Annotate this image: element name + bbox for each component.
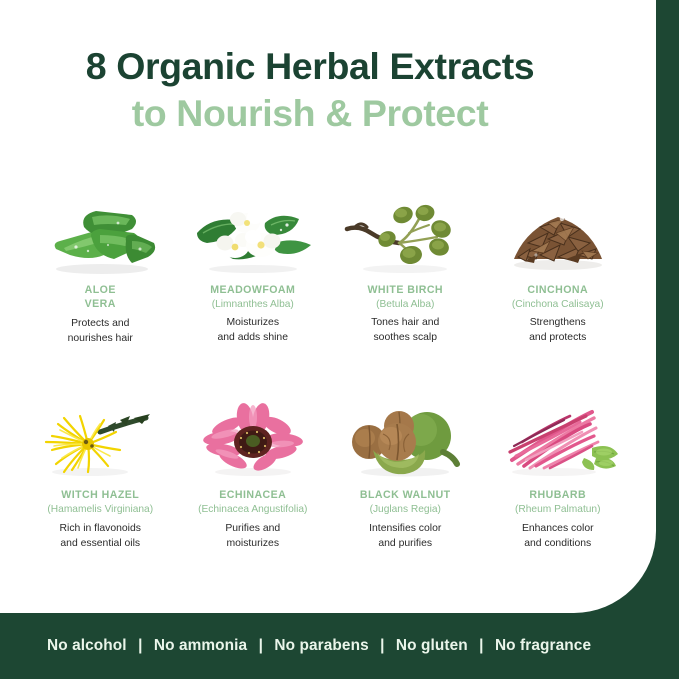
claim-no-ammonia: No ammonia [154,637,247,654]
echinacea-flower-icon [189,398,317,482]
extract-item-white-birch: WHITE BIRCH (Betula Alba) Tones hair and… [329,193,482,346]
extract-item-witch-hazel: WITCH HAZEL (Hamamelis Virginiana) Rich … [24,398,177,551]
extract-name: ALOE VERA [85,284,116,312]
extract-name: BLACK WALNUT [360,489,451,503]
extract-item-echinacea: ECHINACEA (Echinacea Angustifolia) Purif… [177,398,330,551]
extract-description: Tones hair and soothes scalp [371,316,439,346]
claims-footer: No alcohol | No ammonia | No parabens | … [0,613,679,679]
extract-description: Protects and nourishes hair [68,317,133,347]
extract-description: Purifies and moisturizes [225,522,280,552]
claim-separator: | [373,637,391,655]
claim-no-alcohol: No alcohol [47,637,127,654]
rhubarb-stalks-icon [494,398,622,482]
extract-latin-name: (Limnanthes Alba) [212,298,294,311]
extract-latin-name: (Hamamelis Virginiana) [47,503,153,516]
extract-latin-name: (Echinacea Angustifolia) [198,503,307,516]
claim-separator: | [252,637,270,655]
extract-name: WITCH HAZEL [61,489,139,503]
extract-latin-name: (Cinchona Calisaya) [512,298,604,311]
witch-hazel-flower-icon [36,398,164,482]
extract-item-meadowfoam: MEADOWFOAM (Limnanthes Alba) Moisturizes… [177,193,330,346]
extract-name: WHITE BIRCH [367,284,443,298]
poster-root: 8 Organic Herbal Extracts to Nourish & P… [0,0,679,679]
extracts-grid: ALOE VERA Protects and nourishes hair [24,193,634,551]
header: 8 Organic Herbal Extracts to Nourish & P… [0,44,620,137]
extract-latin-name: (Rheum Palmatun) [515,503,601,516]
black-walnut-nuts-icon [341,398,469,482]
extract-description: Enhances color and conditions [522,522,594,552]
extract-latin-name: (Betula Alba) [376,298,434,311]
claim-separator: | [472,637,490,655]
extract-name: CINCHONA [527,284,588,298]
page-title-line2: to Nourish & Protect [0,91,620,137]
white-birch-catkins-icon [341,193,469,277]
extract-item-rhubarb: RHUBARB (Rheum Palmatun) Enhances color … [482,398,635,551]
extract-name: RHUBARB [529,489,586,503]
extract-item-black-walnut: BLACK WALNUT (Juglans Regia) Intensifies… [329,398,482,551]
page-title-line1: 8 Organic Herbal Extracts [0,44,620,88]
claim-no-parabens: No parabens [274,637,368,654]
claims-list: No alcohol | No ammonia | No parabens | … [47,637,591,655]
claim-no-gluten: No gluten [396,637,468,654]
extract-description: Rich in flavonoids and essential oils [60,522,141,552]
extract-latin-name: (Juglans Regia) [370,503,441,516]
extract-name: MEADOWFOAM [210,284,295,298]
claim-no-fragrance: No fragrance [495,637,591,654]
claim-separator: | [131,637,149,655]
aloe-vera-leaves-icon [36,193,164,277]
extract-name: ECHINACEA [219,489,286,503]
extract-item-aloe-vera: ALOE VERA Protects and nourishes hair [24,193,177,346]
cinchona-bark-icon [494,193,622,277]
meadowfoam-flower-icon [189,193,317,277]
extract-description: Moisturizes and adds shine [218,316,288,346]
extract-description: Intensifies color and purifies [369,522,441,552]
extract-item-cinchona: CINCHONA (Cinchona Calisaya) Strengthens… [482,193,635,346]
extract-description: Strengthens and protects [529,316,586,346]
